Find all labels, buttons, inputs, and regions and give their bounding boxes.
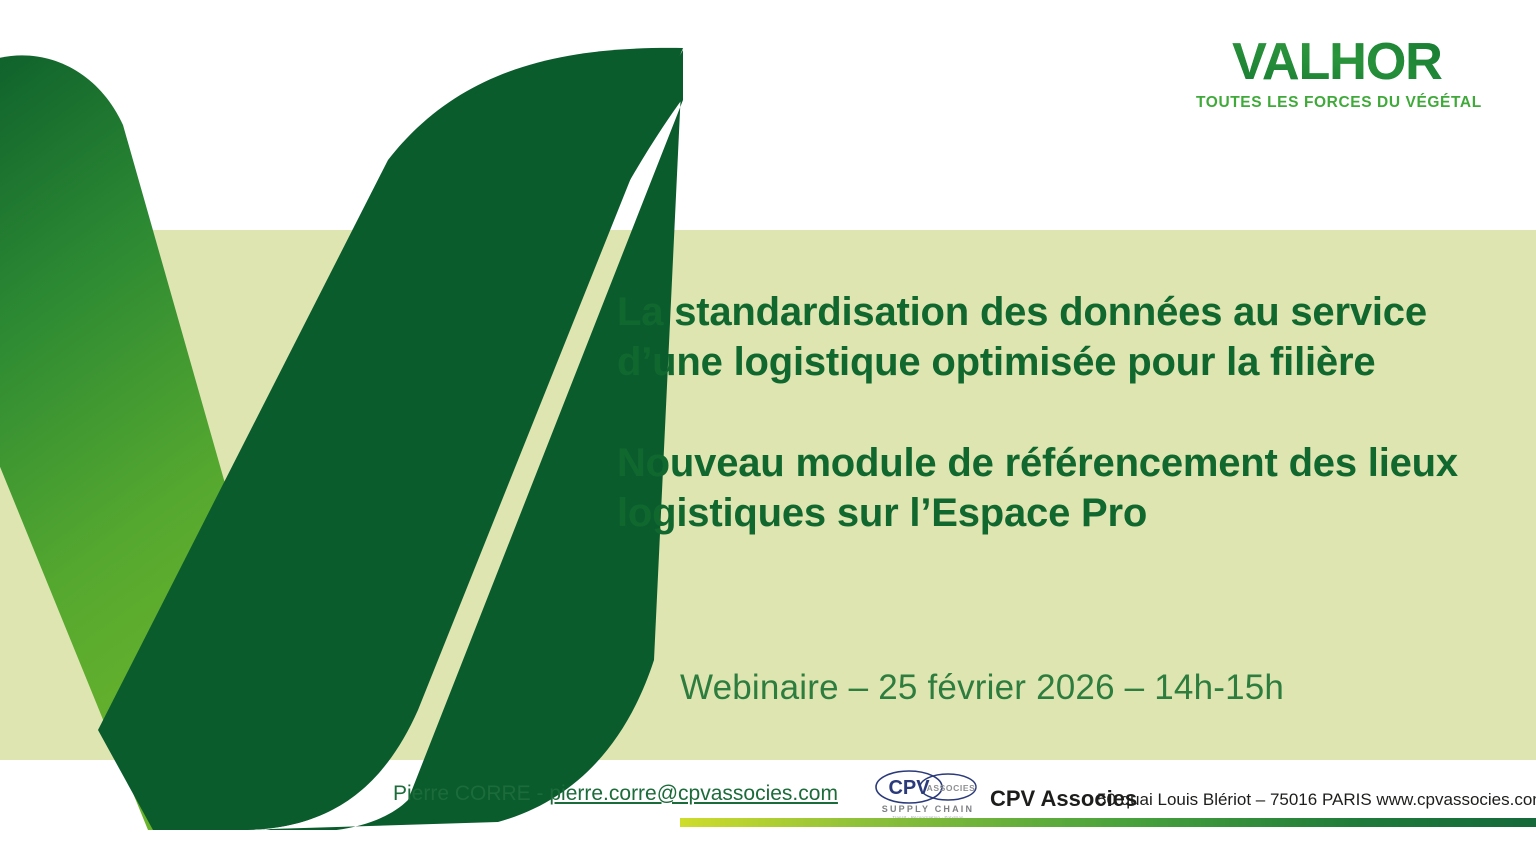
slide-text-block: La standardisation des données au servic… (617, 288, 1507, 538)
page-subtitle: Nouveau module de référencement des lieu… (617, 439, 1507, 538)
speaker-email-link[interactable]: pierre.corre@cpvassocies.com (549, 782, 838, 805)
presentation-slide: VALHOR VALHOR VALHOR TOUTES LES FORCES D… (0, 0, 1536, 864)
cpv-associes-logo-icon: CPV ASSOCIES SUPPLY CHAIN Transit · Réco… (872, 767, 984, 821)
speaker-contact: Pierre CORRE - pierre.corre@cpvassocies.… (393, 782, 838, 806)
valhor-logo: VALHOR VALHOR VALHOR TOUTES LES FORCES D… (1196, 33, 1478, 111)
cpv-company-address: 50 quai Louis Blériot – 75016 PARIS www.… (1097, 790, 1536, 810)
valhor-tagline: TOUTES LES FORCES DU VÉGÉTAL (1196, 95, 1478, 111)
svg-text:SUPPLY CHAIN: SUPPLY CHAIN (882, 804, 974, 814)
valhor-wordmark-icon: VALHOR VALHOR VALHOR (1196, 33, 1478, 88)
valhor-v-icon (0, 40, 698, 830)
svg-text:CPV: CPV (888, 777, 930, 799)
speaker-name: Pierre CORRE - (393, 782, 549, 805)
svg-text:ASSOCIES: ASSOCIES (927, 783, 976, 793)
webinar-schedule: Webinaire – 25 février 2026 – 14h-15h (680, 668, 1284, 708)
footer-gradient-bar (680, 818, 1536, 827)
page-title: La standardisation des données au servic… (617, 288, 1507, 387)
svg-text:VALHOR: VALHOR (1232, 33, 1442, 88)
